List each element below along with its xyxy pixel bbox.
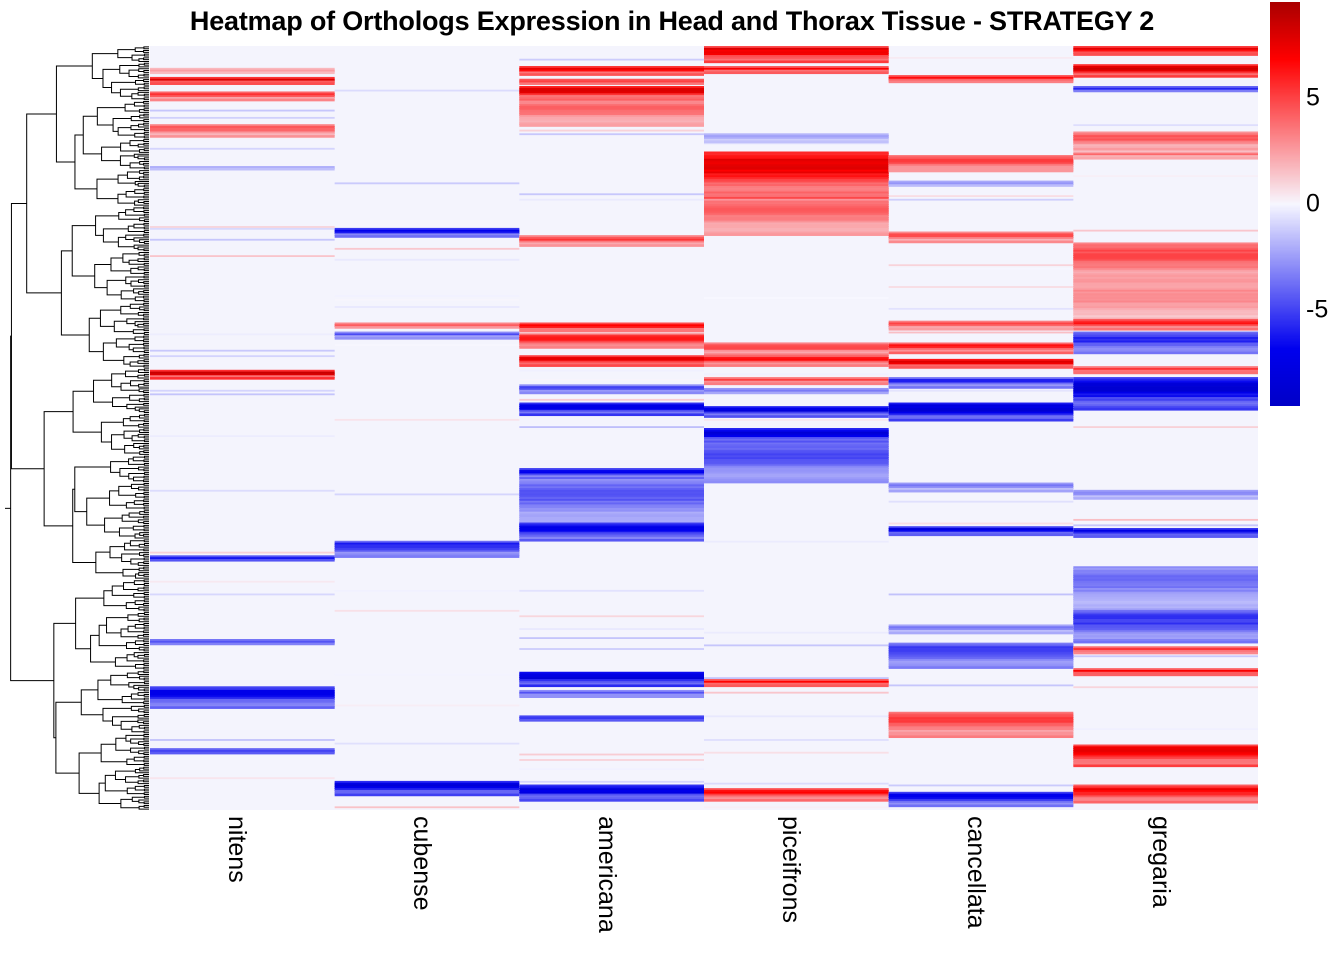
page-title: Heatmap of Orthologs Expression in Head …	[0, 0, 1344, 42]
heatmap-grid	[150, 46, 1258, 810]
column-label-nitens: nitens	[222, 816, 251, 883]
colorbar-tick-0: 0	[1306, 190, 1320, 219]
dendrogram-svg	[0, 46, 150, 810]
colorbar	[1270, 2, 1300, 406]
column-label-gregaria: gregaria	[1146, 816, 1175, 908]
row-dendrogram	[0, 46, 150, 810]
column-labels: nitenscubenseamericanapiceifronscancella…	[150, 816, 1258, 960]
column-label-piceifrons: piceifrons	[776, 816, 805, 923]
colorbar-gradient	[1270, 2, 1300, 406]
column-label-americana: americana	[592, 816, 621, 933]
colorbar-tick-neg5: -5	[1306, 296, 1328, 325]
heatmap-canvas	[150, 46, 1258, 810]
colorbar-tick-5: 5	[1306, 83, 1320, 112]
heatmap-plot-area	[0, 46, 1344, 810]
column-label-cancellata: cancellata	[961, 816, 990, 929]
column-label-cubense: cubense	[407, 816, 436, 911]
